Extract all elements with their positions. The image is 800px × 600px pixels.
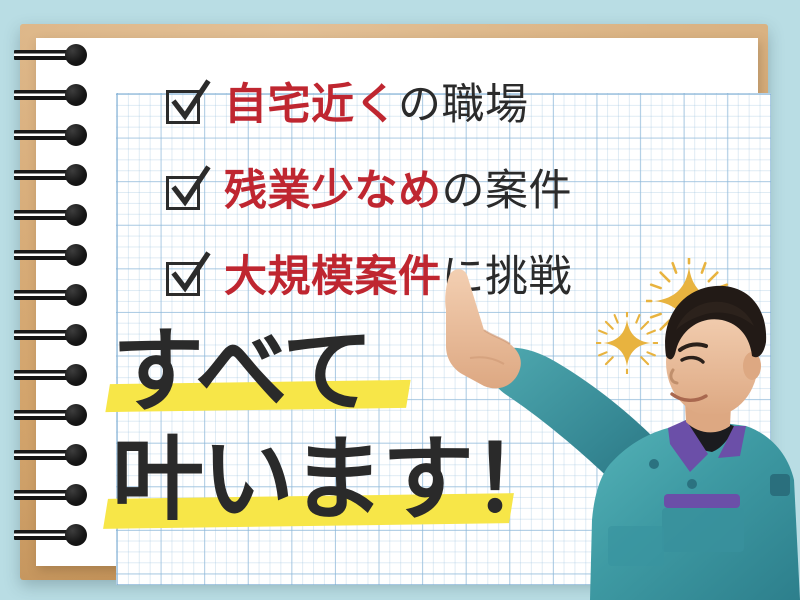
spiral-ring-bead: [65, 84, 87, 106]
worker-shoulder-patch: [770, 474, 790, 496]
spiral-ring-bead: [65, 204, 87, 226]
spiral-binding: [0, 38, 110, 566]
spiral-ring-bead: [65, 44, 87, 66]
sparkle-icon: [596, 312, 658, 374]
spiral-ring: [14, 444, 94, 466]
spiral-ring-bead: [65, 244, 87, 266]
poster-canvas: 自宅近くの職場 残業少なめの案件 大規模案件に挑戦: [0, 0, 800, 600]
spiral-ring-bead: [65, 364, 87, 386]
spiral-ring: [14, 484, 94, 506]
checklist-item[interactable]: 残業少なめの案件: [166, 148, 686, 234]
headline-block: すべて 叶います！: [112, 326, 582, 542]
spiral-ring: [14, 84, 94, 106]
checkbox-checked-icon[interactable]: [166, 258, 204, 296]
spiral-ring: [14, 244, 94, 266]
spiral-ring-bead: [65, 164, 87, 186]
headline-line-1: すべて: [112, 326, 582, 434]
spiral-ring: [14, 324, 94, 346]
checklist-item-tail: に挑戦: [442, 252, 573, 302]
spiral-ring: [14, 44, 94, 66]
spiral-ring-bead: [65, 524, 87, 546]
checklist-item-tail: の職場: [398, 80, 529, 130]
checklist-item-highlight: 残業少なめ: [224, 166, 442, 216]
headline-text: 叶います！: [112, 426, 562, 533]
checklist-item-highlight: 自宅近く: [224, 80, 398, 130]
checklist-item[interactable]: 大規模案件に挑戦: [166, 234, 686, 320]
spiral-ring-bead: [65, 484, 87, 506]
spiral-ring: [14, 124, 94, 146]
spiral-ring-bead: [65, 124, 87, 146]
headline-text: すべて: [112, 318, 372, 425]
spiral-ring: [14, 364, 94, 386]
spiral-ring: [14, 284, 94, 306]
checklist-item-text: 残業少なめの案件: [224, 170, 572, 213]
checklist-item-tail: の案件: [442, 166, 573, 216]
spiral-ring: [14, 164, 94, 186]
spiral-ring: [14, 204, 94, 226]
headline-line-2: 叶います！: [112, 434, 582, 542]
checkbox-checked-icon[interactable]: [166, 86, 204, 124]
checklist: 自宅近くの職場 残業少なめの案件 大規模案件に挑戦: [166, 62, 686, 320]
checklist-item[interactable]: 自宅近くの職場: [166, 62, 686, 148]
checklist-item-text: 大規模案件に挑戦: [224, 256, 572, 299]
spiral-ring: [14, 524, 94, 546]
spiral-ring-bead: [65, 324, 87, 346]
spiral-ring-bead: [65, 444, 87, 466]
checklist-item-text: 自宅近くの職場: [224, 84, 529, 127]
spiral-ring-bead: [65, 404, 87, 426]
checklist-item-highlight: 大規模案件: [224, 252, 442, 302]
spiral-ring-bead: [65, 284, 87, 306]
sparkle-icon: [646, 258, 732, 344]
spiral-ring: [14, 404, 94, 426]
checkbox-checked-icon[interactable]: [166, 172, 204, 210]
